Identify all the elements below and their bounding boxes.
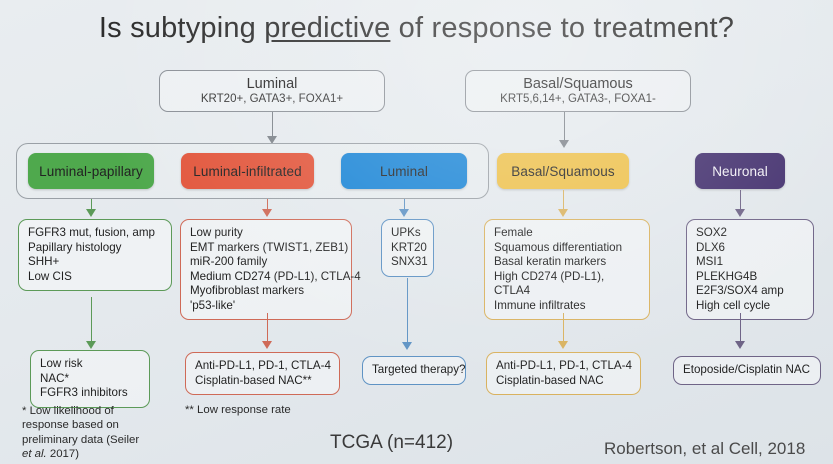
treatment-line: Cisplatin-based NAC** (195, 374, 331, 389)
footnote-et-al: et al. (22, 448, 47, 460)
feature-line: MSI1 (696, 255, 805, 270)
subtype-chip-luminal-papillary[interactable]: Luminal-papillary (28, 153, 154, 189)
feature-line: Papillary histology (28, 241, 163, 256)
arrow-feature-to-treatment-5 (735, 341, 745, 349)
feature-box-neuronal: SOX2 DLX6 MSI1 PLEKHG4B E2F3/SOX4 amp Hi… (686, 219, 814, 320)
treatment-line: FGFR3 inhibitors (40, 386, 141, 401)
connector-chip-to-feature-5 (740, 190, 741, 211)
subtype-chip-neuronal[interactable]: Neuronal (695, 153, 785, 189)
subtype-chip-luminal-infiltrated[interactable]: Luminal-infiltrated (181, 153, 314, 189)
title-text-underlined: predictive (264, 12, 390, 44)
feature-line: High CD274 (PD-L1), (494, 270, 641, 285)
feature-line: KRT20 (391, 241, 425, 256)
treatment-line: Etoposide/Cisplatin NAC (683, 363, 812, 378)
treatment-box-luminal: Targeted therapy? (362, 356, 466, 385)
arrow-feature-to-treatment-2 (262, 341, 272, 349)
feature-box-luminal-infiltrated: Low purity EMT markers (TWIST1, ZEB1) mi… (180, 219, 352, 320)
subtype-chip-luminal-label: Luminal (380, 164, 428, 179)
feature-box-luminal: UPKs KRT20 SNX31 (381, 219, 434, 277)
connector-feature-to-treatment-4 (563, 313, 564, 343)
class-box-basal-squamous-markers: KRT5,6,14+, GATA3-, FOXA1- (466, 93, 690, 106)
subtype-chip-basal-squamous-label: Basal/Squamous (511, 164, 614, 179)
arrow-chip-to-feature-3 (399, 209, 409, 217)
feature-line: 'p53-like' (190, 299, 343, 314)
footnote-asterisk-line1: * Low likelihood of (22, 404, 172, 418)
footnote-asterisk: * Low likelihood of response based on pr… (22, 404, 172, 461)
treatment-line: Anti-PD-L1, PD-1, CTLA-4 (496, 359, 632, 374)
class-box-luminal-title: Luminal (160, 76, 384, 92)
treatment-line: Targeted therapy? (372, 363, 457, 378)
feature-line: SOX2 (696, 226, 805, 241)
footnote-asterisk-line4: et al. 2017) (22, 447, 172, 461)
feature-line: Low purity (190, 226, 343, 241)
feature-line: Basal keratin markers (494, 255, 641, 270)
feature-line: PLEKHG4B (696, 270, 805, 285)
connector-basal-to-chip (564, 112, 565, 142)
class-box-luminal-markers: KRT20+, GATA3+, FOXA1+ (160, 93, 384, 106)
feature-box-luminal-papillary: FGFR3 mut, fusion, amp Papillary histolo… (18, 219, 172, 291)
subtype-chip-luminal[interactable]: Luminal (341, 153, 467, 189)
feature-line: Low CIS (28, 270, 163, 285)
subtype-chip-neuronal-label: Neuronal (712, 164, 768, 179)
connector-feature-to-treatment-2 (267, 313, 268, 343)
feature-line: Medium CD274 (PD-L1), CTLA-4 (190, 270, 343, 285)
subtype-chip-luminal-papillary-label: Luminal-papillary (39, 164, 143, 179)
treatment-box-luminal-infiltrated: Anti-PD-L1, PD-1, CTLA-4 Cisplatin-based… (185, 352, 340, 395)
footnote-double-asterisk-text: ** Low response rate (185, 403, 291, 417)
feature-line: Female (494, 226, 641, 241)
feature-line: EMT markers (TWIST1, ZEB1) (190, 241, 343, 256)
feature-line: High cell cycle (696, 299, 805, 314)
treatment-line: NAC* (40, 372, 141, 387)
page-title: Is subtyping predictive of response to t… (0, 12, 833, 45)
footnote-asterisk-line3: preliminary data (Seiler (22, 433, 172, 447)
footnote-year: 2017) (47, 448, 79, 460)
class-box-basal-squamous-title: Basal/Squamous (466, 76, 690, 92)
feature-line: Myofibroblast markers (190, 284, 343, 299)
class-box-basal-squamous: Basal/Squamous KRT5,6,14+, GATA3-, FOXA1… (465, 70, 691, 112)
feature-line: Squamous differentiation (494, 241, 641, 256)
class-box-luminal: Luminal KRT20+, GATA3+, FOXA1+ (159, 70, 385, 112)
arrow-chip-to-feature-4 (558, 209, 568, 217)
connector-feature-to-treatment-5 (740, 313, 741, 343)
connector-luminal-to-group (272, 112, 273, 138)
caption-citation: Robertson, et al Cell, 2018 (604, 439, 805, 459)
arrow-feature-to-treatment-4 (558, 341, 568, 349)
arrow-basal-to-chip (559, 140, 569, 148)
title-text-after: of response to treatment? (390, 12, 734, 44)
treatment-box-luminal-papillary: Low risk NAC* FGFR3 inhibitors (30, 350, 150, 408)
feature-box-basal-squamous: Female Squamous differentiation Basal ke… (484, 219, 650, 320)
connector-feature-to-treatment-1 (91, 297, 92, 343)
arrow-feature-to-treatment-1 (86, 341, 96, 349)
feature-line: DLX6 (696, 241, 805, 256)
treatment-line: Anti-PD-L1, PD-1, CTLA-4 (195, 359, 331, 374)
feature-line: SHH+ (28, 255, 163, 270)
connector-chip-to-feature-4 (563, 190, 564, 211)
arrow-chip-to-feature-2 (262, 209, 272, 217)
arrow-feature-to-treatment-3 (402, 342, 412, 350)
feature-line: UPKs (391, 226, 425, 241)
feature-line: CTLA4 (494, 284, 641, 299)
footnote-double-asterisk: ** Low response rate (185, 403, 291, 417)
title-text-before: Is subtyping (99, 12, 264, 44)
arrow-chip-to-feature-1 (86, 209, 96, 217)
treatment-line: Low risk (40, 357, 141, 372)
arrow-chip-to-feature-5 (735, 209, 745, 217)
treatment-box-neuronal: Etoposide/Cisplatin NAC (673, 356, 821, 385)
subtype-chip-luminal-infiltrated-label: Luminal-infiltrated (193, 164, 301, 179)
feature-line: SNX31 (391, 255, 425, 270)
feature-line: Immune infiltrates (494, 299, 641, 314)
feature-line: E2F3/SOX4 amp (696, 284, 805, 299)
footnote-asterisk-line2: response based on (22, 418, 172, 432)
feature-line: FGFR3 mut, fusion, amp (28, 226, 163, 241)
connector-feature-to-treatment-3 (407, 278, 408, 344)
subtype-chip-basal-squamous[interactable]: Basal/Squamous (497, 153, 629, 189)
slide-canvas: Is subtyping predictive of response to t… (0, 0, 833, 464)
feature-line: miR-200 family (190, 255, 343, 270)
treatment-box-basal-squamous: Anti-PD-L1, PD-1, CTLA-4 Cisplatin-based… (486, 352, 641, 395)
caption-cohort: TCGA (n=412) (330, 432, 453, 454)
treatment-line: Cisplatin-based NAC (496, 374, 632, 389)
